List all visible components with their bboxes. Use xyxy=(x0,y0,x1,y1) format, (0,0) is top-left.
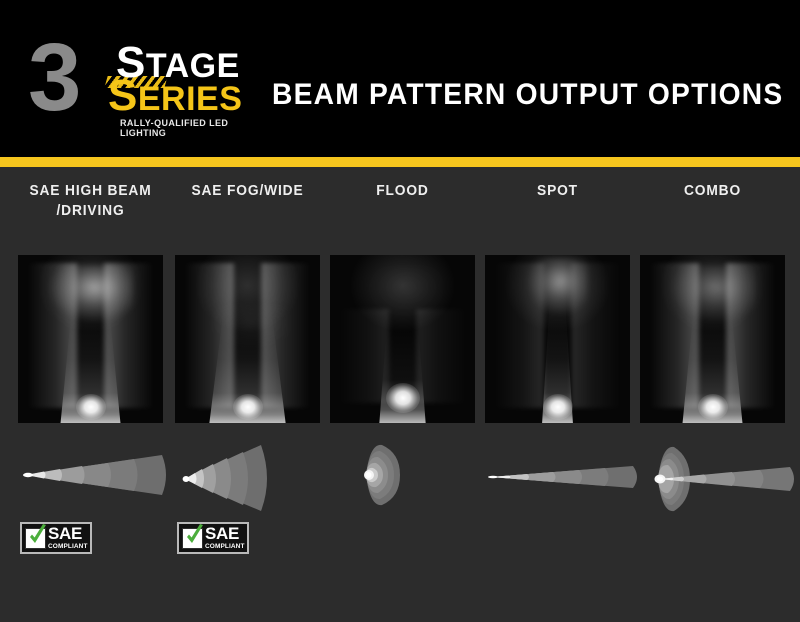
column-label-line1: SAE HIGH BEAM xyxy=(10,181,171,201)
column-flood: FLOOD xyxy=(330,167,475,622)
beam-photo-spot xyxy=(485,255,630,423)
sae-compliant-badge-fog-wide: SAE COMPLIANT xyxy=(177,522,249,554)
beam-diagram-flood xyxy=(324,439,484,511)
column-spot: SPOT xyxy=(485,167,630,622)
beam-diagram-sae-high-beam-driving xyxy=(12,439,172,511)
logo-numeral-3: 3 xyxy=(28,30,77,126)
beam-photo-flood xyxy=(330,255,475,423)
column-label-sae-high-beam-driving: SAE HIGH BEAM /DRIVING xyxy=(10,181,171,221)
sae-badge-text: SAE COMPLIANT xyxy=(205,525,245,551)
photo-hotspot xyxy=(76,394,106,420)
column-label-flood: FLOOD xyxy=(322,181,483,201)
beam-shape-spot xyxy=(479,439,649,511)
header-bar: 3 STAGE SERIES RALLY-QUALIFIED LED LIGHT… xyxy=(0,0,800,157)
column-sae-fog-wide: SAE FOG/WIDE xyxy=(175,167,320,622)
beam-diagram-spot xyxy=(479,439,639,511)
column-label-combo: COMBO xyxy=(632,181,793,201)
sae-badge-title: SAE xyxy=(205,525,239,542)
stage-series-logo: 3 STAGE SERIES RALLY-QUALIFIED LED LIGHT… xyxy=(28,34,258,130)
beam-pattern-grid: SAE HIGH BEAM /DRIVING xyxy=(0,167,800,622)
column-label-line1: COMBO xyxy=(632,181,793,201)
beam-diagram-combo xyxy=(634,439,794,511)
logo-word-series: SERIES xyxy=(108,79,242,116)
photo-hotspot xyxy=(543,394,573,420)
photo-hotspot xyxy=(698,394,728,420)
beam-shape-fog-wide xyxy=(169,439,329,511)
page-title: BEAM PATTERN OUTPUT OPTIONS xyxy=(272,78,783,112)
column-label-line2: /DRIVING xyxy=(10,201,171,221)
logo-tagline: RALLY-QUALIFIED LED LIGHTING xyxy=(120,118,258,138)
column-sae-high-beam-driving: SAE HIGH BEAM /DRIVING xyxy=(18,167,163,622)
green-check-glyph xyxy=(27,523,49,549)
sae-badge-text: SAE COMPLIANT xyxy=(48,525,88,551)
beam-photo-combo xyxy=(640,255,785,423)
checkmark-icon xyxy=(25,528,46,549)
beam-shape-combo xyxy=(634,439,800,515)
photo-hotspot xyxy=(386,383,420,413)
beam-pattern-infographic: 3 STAGE SERIES RALLY-QUALIFIED LED LIGHT… xyxy=(0,0,800,622)
sae-compliant-badge-driving: SAE COMPLIANT xyxy=(20,522,92,554)
sae-badge-subtitle: COMPLIANT xyxy=(205,543,245,551)
yellow-accent-bar xyxy=(0,157,800,167)
column-label-sae-fog-wide: SAE FOG/WIDE xyxy=(167,181,328,201)
checkmark-icon xyxy=(182,528,203,549)
beam-shape-driving xyxy=(12,439,172,511)
photo-hotspot xyxy=(233,394,263,420)
column-label-spot: SPOT xyxy=(477,181,638,201)
column-combo: COMBO xyxy=(640,167,785,622)
logo-series-rest: ERIES xyxy=(138,80,243,118)
column-label-line1: SAE FOG/WIDE xyxy=(167,181,328,201)
sae-badge-subtitle: COMPLIANT xyxy=(48,543,88,551)
beam-photo-sae-fog-wide xyxy=(175,255,320,423)
column-label-line1: FLOOD xyxy=(322,181,483,201)
beam-photo-sae-high-beam-driving xyxy=(18,255,163,423)
beam-shape-flood xyxy=(324,439,484,511)
logo-series-capital: S xyxy=(108,71,138,120)
sae-badge-title: SAE xyxy=(48,525,82,542)
column-label-line1: SPOT xyxy=(477,181,638,201)
green-check-glyph xyxy=(184,523,206,549)
beam-diagram-sae-fog-wide xyxy=(169,439,329,511)
